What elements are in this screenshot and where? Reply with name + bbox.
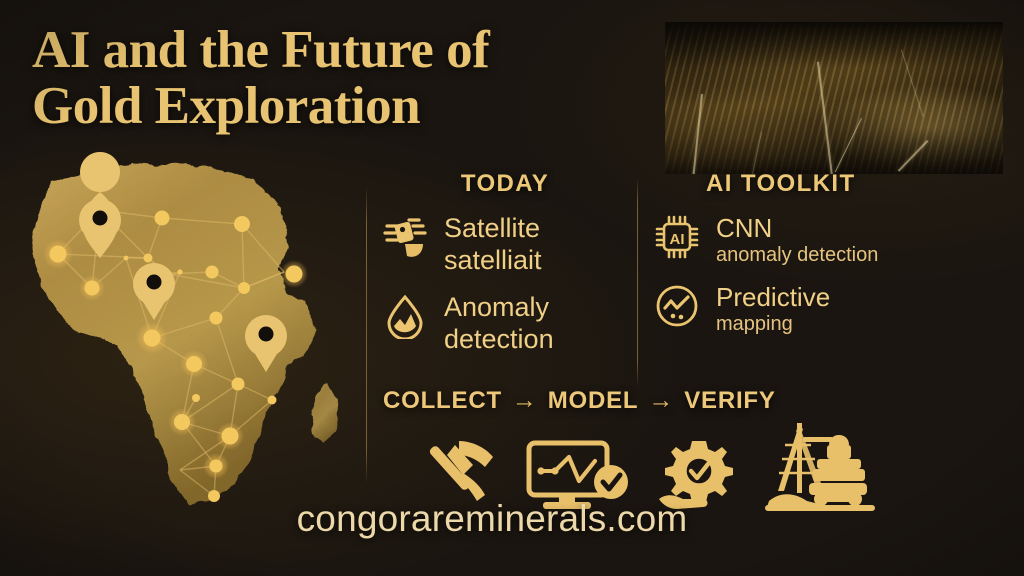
feature-satellite-sub: satelliait (444, 244, 542, 276)
feature-predictive-sub: mapping (716, 312, 830, 336)
africa-silhouette (32, 164, 338, 504)
footer-url[interactable]: congorareminerals.com (0, 498, 1024, 540)
title-line-2: Gold Exploration (32, 78, 652, 134)
ai-chip-label: AI (670, 231, 685, 248)
arrow-icon: → (512, 386, 538, 415)
ai-chip-icon: AI (652, 212, 702, 262)
arrow-icon: → (648, 386, 674, 415)
feature-cnn-main: CNN (716, 213, 878, 243)
workflow-step-model: MODEL (548, 387, 639, 415)
workflow-step-verify: VERIFY (684, 387, 775, 415)
feature-anomaly-text: Anomaly detection (444, 291, 554, 356)
rock-texture-photo (665, 22, 1003, 174)
column-ai-toolkit: AI TOOLKIT AI (652, 170, 1002, 350)
feature-predictive-main: Predictive (716, 282, 830, 312)
workflow-step-collect: COLLECT (383, 387, 502, 415)
workflow-steps: COLLECT → MODEL → VERIFY (383, 386, 1003, 415)
satellite-icon (380, 212, 430, 262)
feature-cnn-text: CNN anomaly detection (716, 212, 878, 267)
column-today-heading: TODAY (380, 170, 630, 198)
predictive-trend-icon (652, 281, 702, 331)
feature-satellite-main: Satellite (444, 213, 542, 244)
infographic-poster: AI and the Future of Gold Exploration (0, 0, 1024, 576)
feature-cnn: AI CNN anomaly detection (652, 212, 1002, 267)
africa-continent-map (4, 152, 356, 520)
feature-anomaly-main: Anomaly (444, 292, 554, 323)
column-toolkit-heading: AI TOOLKIT (652, 170, 1002, 198)
feature-anomaly: Anomaly detection (380, 291, 630, 356)
title-line-1: AI and the Future of (32, 22, 652, 78)
feature-predictive: Predictive mapping (652, 281, 1002, 336)
feature-satellite-text: Satellite satelliait (444, 212, 542, 277)
feature-anomaly-sub: detection (444, 323, 554, 355)
divider-middle (637, 178, 638, 386)
feature-predictive-text: Predictive mapping (716, 281, 830, 336)
droplet-anomaly-icon (380, 291, 430, 341)
column-today: TODAY Satellit (380, 170, 630, 369)
divider-left (366, 186, 367, 484)
page-title: AI and the Future of Gold Exploration (32, 22, 652, 134)
feature-cnn-sub: anomaly detection (716, 243, 878, 267)
feature-satellite: Satellite satelliait (380, 212, 630, 277)
